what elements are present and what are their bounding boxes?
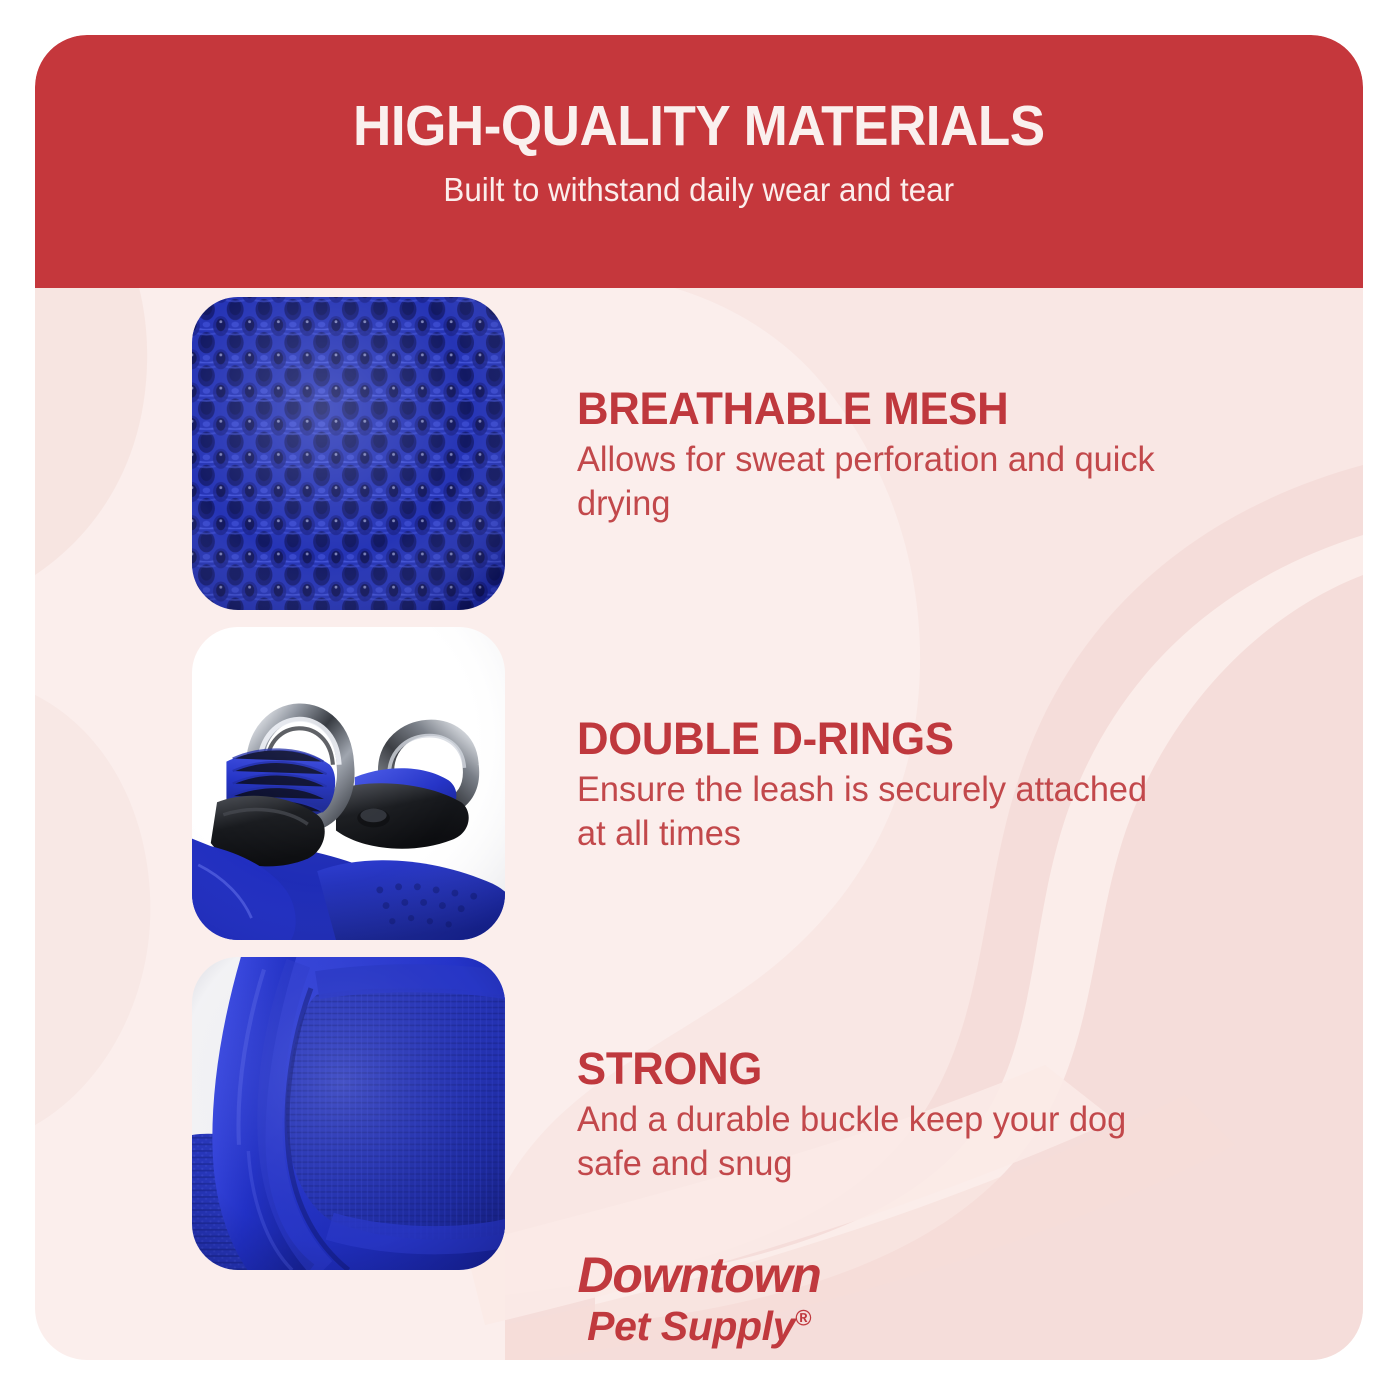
page-subtitle: Built to withstand daily wear and tear	[444, 171, 955, 209]
feature-image-blue-mesh-fabric-closeup	[192, 297, 505, 610]
feature-description: And a durable buckle keep your dog safe …	[577, 1098, 1175, 1185]
header-banner: HIGH-QUALITY MATERIALS Built to withstan…	[35, 35, 1363, 288]
brand-logo-line1: Downtown	[35, 1250, 1363, 1300]
feature-item: BREATHABLE MESH Allows for sweat perfora…	[35, 288, 1363, 618]
page-title: HIGH-QUALITY MATERIALS	[353, 97, 1045, 157]
feature-image-blue-padded-harness-edge	[192, 957, 505, 1270]
brand-logo: Downtown Pet Supply®	[35, 1250, 1363, 1347]
feature-description: Ensure the leash is securely attached at…	[577, 768, 1175, 855]
feature-title: BREATHABLE MESH	[577, 385, 1169, 432]
feature-list: BREATHABLE MESH Allows for sweat perfora…	[35, 288, 1363, 1278]
infographic-card: HIGH-QUALITY MATERIALS Built to withstan…	[35, 35, 1363, 1360]
registered-trademark-icon: ®	[795, 1305, 811, 1330]
feature-description: Allows for sweat perforation and quick d…	[577, 438, 1175, 525]
feature-title: STRONG	[577, 1045, 1169, 1092]
feature-text: STRONG And a durable buckle keep your do…	[577, 1041, 1187, 1185]
feature-title: DOUBLE D-RINGS	[577, 715, 1169, 762]
feature-item: DOUBLE D-RINGS Ensure the leash is secur…	[35, 618, 1363, 948]
brand-logo-line2-text: Pet Supply	[587, 1303, 795, 1349]
feature-text: DOUBLE D-RINGS Ensure the leash is secur…	[577, 711, 1187, 855]
brand-logo-line2: Pet Supply®	[35, 1306, 1363, 1347]
feature-text: BREATHABLE MESH Allows for sweat perfora…	[577, 381, 1187, 525]
feature-item: STRONG And a durable buckle keep your do…	[35, 948, 1363, 1278]
feature-image-metal-d-rings-on-blue-strap	[192, 627, 505, 940]
